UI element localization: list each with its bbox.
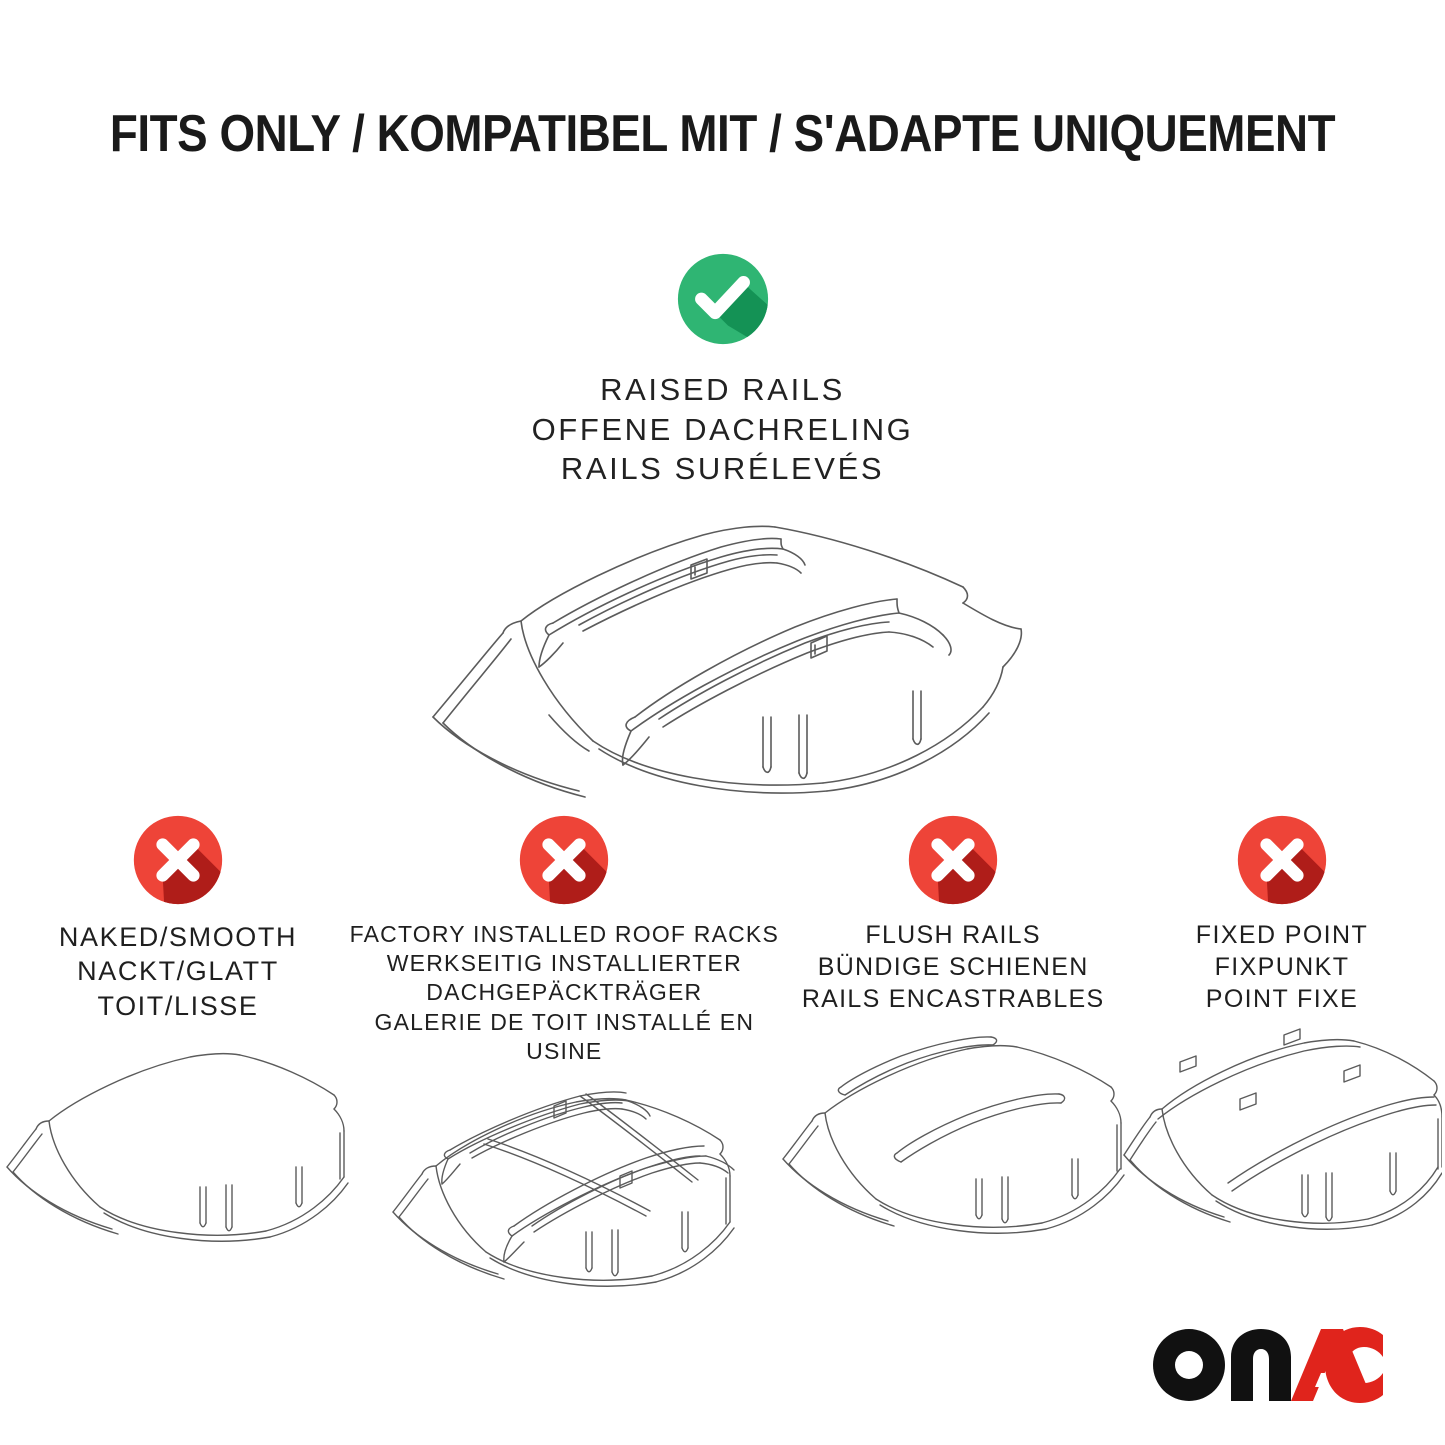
compatible-label-fr: RAILS SURÉLEVÉS	[532, 449, 914, 489]
cross-circle-icon	[130, 812, 226, 908]
incompatible-label-fr: TOIT/LISSE	[59, 989, 297, 1023]
incompatible-label-de-1: WERKSEITIG INSTALLIERTER	[349, 949, 779, 978]
incompatible-labels: FACTORY INSTALLED ROOF RACKS WERKSEITIG …	[349, 920, 779, 1066]
omac-logo	[1151, 1327, 1383, 1403]
compatible-label-en: RAISED RAILS	[532, 370, 914, 410]
incompatible-item-flush-rails: FLUSH RAILS BÜNDIGE SCHIENEN RAILS ENCAS…	[781, 812, 1126, 1251]
incompatible-item-naked-smooth: NAKED/SMOOTH NACKT/GLATT TOIT/LISSE	[8, 812, 348, 1256]
car-roof-flush-rails-illustration	[777, 1023, 1129, 1251]
incompatible-item-factory-roof-racks: FACTORY INSTALLED ROOF RACKS WERKSEITIG …	[349, 812, 779, 1309]
incompatible-label-de: BÜNDIGE SCHIENEN	[802, 952, 1105, 984]
incompatible-labels: FLUSH RAILS BÜNDIGE SCHIENEN RAILS ENCAS…	[802, 920, 1105, 1015]
compatible-label-de: OFFENE DACHRELING	[532, 410, 914, 450]
logo-letter-o	[1153, 1329, 1225, 1401]
compatible-section: RAISED RAILS OFFENE DACHRELING RAILS SUR…	[0, 250, 1445, 803]
logo-letter-m	[1231, 1329, 1291, 1401]
omac-logo-mark	[1151, 1327, 1383, 1403]
incompatible-label-en: NAKED/SMOOTH	[59, 920, 297, 954]
incompatible-label-de: FIXPUNKT	[1196, 952, 1368, 984]
incompatible-label-fr: POINT FIXE	[1196, 984, 1368, 1016]
car-roof-raised-rails-illustration	[403, 503, 1043, 803]
incompatible-label-en: FACTORY INSTALLED ROOF RACKS	[349, 920, 779, 949]
incompatible-labels: NAKED/SMOOTH NACKT/GLATT TOIT/LISSE	[59, 920, 297, 1023]
check-circle-icon	[674, 250, 772, 348]
incompatible-section: NAKED/SMOOTH NACKT/GLATT TOIT/LISSE	[0, 812, 1445, 1309]
cross-circle-icon	[905, 812, 1001, 908]
fitment-compatibility-graphic: FITS ONLY / KOMPATIBEL MIT / S'ADAPTE UN…	[0, 0, 1445, 1445]
car-roof-fixed-point-illustration	[1122, 1023, 1442, 1251]
cross-circle-icon	[1234, 812, 1330, 908]
incompatible-item-fixed-point: FIXED POINT FIXPUNKT POINT FIXE	[1127, 812, 1437, 1251]
car-roof-factory-roof-racks-illustration	[384, 1074, 744, 1309]
incompatible-labels: FIXED POINT FIXPUNKT POINT FIXE	[1196, 920, 1368, 1015]
incompatible-label-en: FLUSH RAILS	[802, 920, 1105, 952]
incompatible-label-fr: RAILS ENCASTRABLES	[802, 984, 1105, 1016]
compatible-labels: RAISED RAILS OFFENE DACHRELING RAILS SUR…	[532, 370, 914, 489]
incompatible-label-de: NACKT/GLATT	[59, 954, 297, 988]
incompatible-label-en: FIXED POINT	[1196, 920, 1368, 952]
incompatible-label-fr: GALERIE DE TOIT INSTALLÉ EN USINE	[349, 1008, 779, 1066]
car-roof-naked-smooth-illustration	[4, 1031, 352, 1256]
cross-circle-icon	[516, 812, 612, 908]
incompatible-label-de-2: DACHGEPÄCKTRÄGER	[349, 978, 779, 1007]
page-title: FITS ONLY / KOMPATIBEL MIT / S'ADAPTE UN…	[87, 104, 1359, 164]
